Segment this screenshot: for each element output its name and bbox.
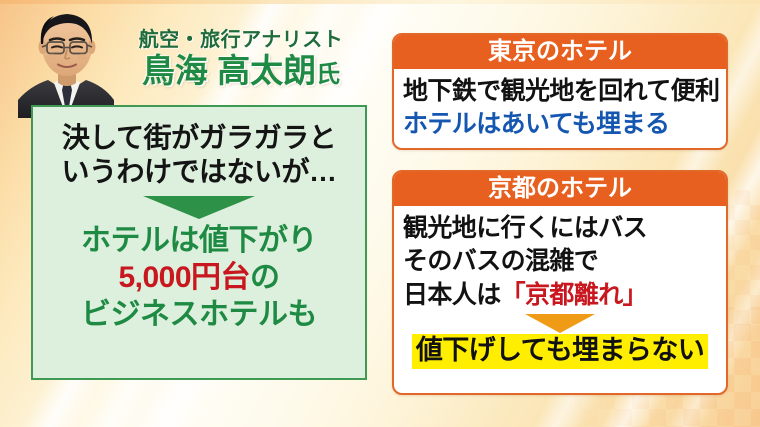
kyoto-card-line-3-prefix: 日本人は — [403, 281, 501, 309]
tokyo-card-line-2: ホテルはあいても埋まる — [403, 108, 717, 141]
tokyo-card-body: 地下鉄で観光地を回れて便利 ホテルはあいても埋まる — [394, 69, 726, 148]
tokyo-hotels-card: 東京のホテル 地下鉄で観光地を回れて便利 ホテルはあいても埋まる — [392, 33, 728, 150]
quote-conclusion-line-3: ビジネスホテルも — [43, 297, 355, 334]
kyoto-card-line-3: 日本人は「京都離れ」 — [403, 279, 717, 312]
kyoto-card-line-1: 観光地に行くにはバス — [403, 212, 717, 245]
kyoto-hotels-card: 京都のホテル 観光地に行くにはバス そのバスの混雑で 日本人は「京都離れ」 値下… — [392, 170, 728, 395]
quote-conclusion-line-2-tail: の — [250, 261, 280, 294]
quote-conclusion-line-1: ホテルは値下がり — [43, 223, 355, 260]
analyst-name-text: 鳥海 高太朗 — [142, 52, 316, 89]
analyst-quote-panel: 決して街がガラガラと いうわけではないが… ホテルは値下がり 5,000円台の … — [31, 105, 367, 380]
quote-lead-line-2: いうわけではないが… — [43, 155, 355, 189]
down-arrow-orange-icon — [525, 314, 595, 333]
analyst-name-suffix: 氏 — [316, 61, 340, 88]
kyoto-card-body: 観光地に行くにはバス そのバスの混雑で 日本人は「京都離れ」 値下げしても埋まら… — [394, 206, 726, 375]
down-arrow-green-icon — [143, 196, 255, 219]
tokyo-card-line-1: 地下鉄で観光地を回れて便利 — [403, 75, 717, 108]
kyoto-conclusion-highlight: 値下げしても埋まらない — [412, 334, 708, 369]
quote-conclusion-line-2: 5,000円台の — [43, 260, 355, 297]
tokyo-card-heading: 東京のホテル — [394, 35, 726, 69]
quote-lead-line-1: 決して街がガラガラと — [43, 121, 355, 155]
analyst-caption: 航空・旅行アナリスト 鳥海 高太朗氏 — [112, 30, 370, 87]
kyoto-conclusion-row: 値下げしても埋まらない — [403, 334, 717, 369]
broadcast-graphic-stage: 航空・旅行アナリスト 鳥海 高太朗氏 決して街がガラガラと いうわけではないが…… — [0, 0, 760, 427]
quote-price-amount: 5,000円台 — [118, 261, 250, 294]
analyst-role-label: 航空・旅行アナリスト — [112, 30, 370, 50]
analyst-portrait-photo — [14, 0, 120, 118]
kyoto-card-quote-highlight: 「京都離れ」 — [501, 281, 647, 309]
kyoto-card-line-2: そのバスの混雑で — [403, 245, 717, 278]
kyoto-card-heading: 京都のホテル — [394, 172, 726, 206]
analyst-name-label: 鳥海 高太朗氏 — [112, 54, 370, 87]
